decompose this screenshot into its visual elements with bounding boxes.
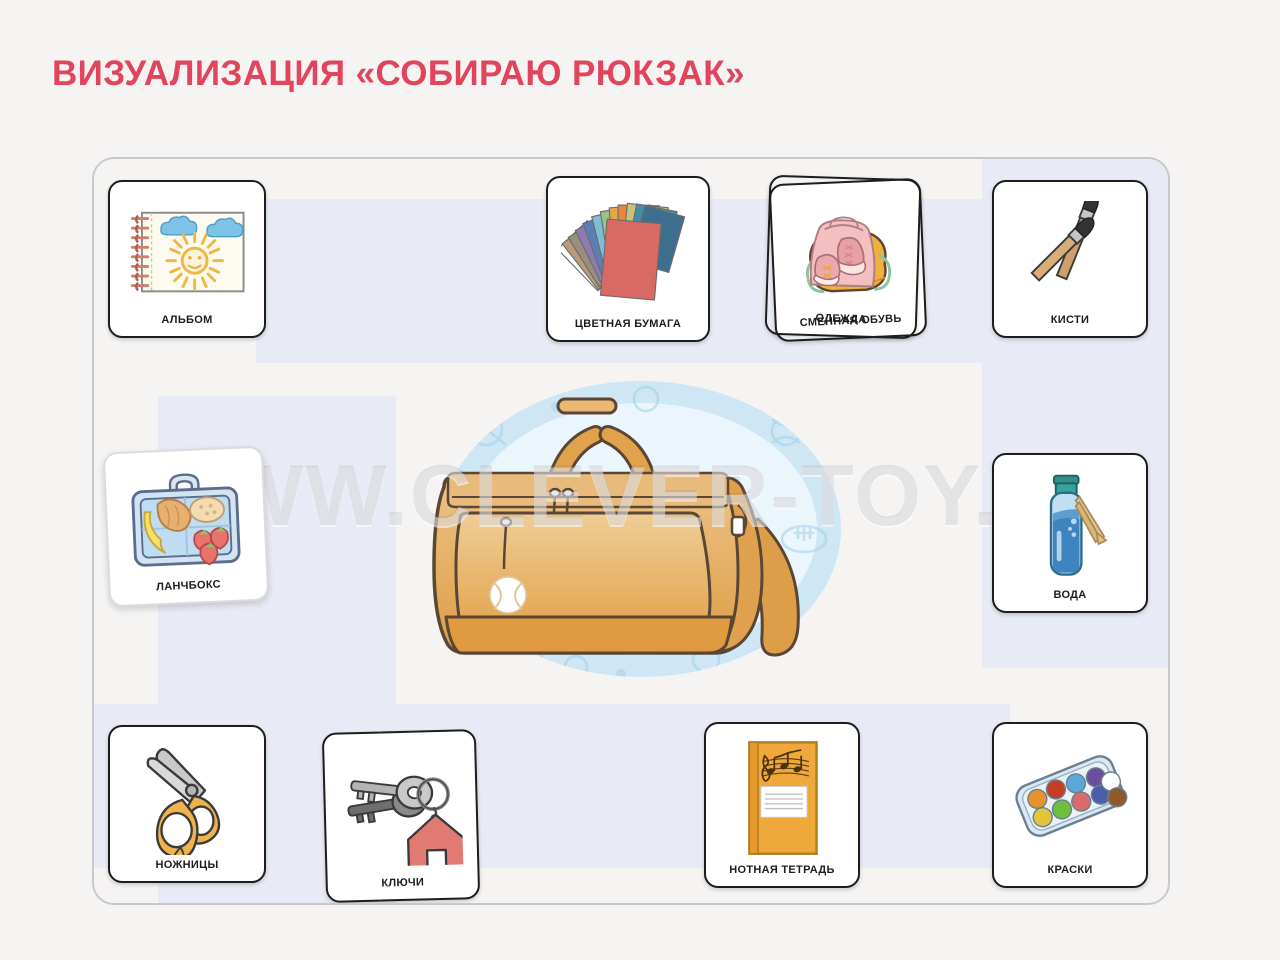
card-label: ЦВЕТНАЯ БУМАГА	[548, 319, 708, 340]
center-bag-illustration	[406, 359, 876, 699]
card-colored-paper[interactable]: ЦВЕТНАЯ БУМАГА	[546, 176, 710, 342]
paint-palette-icon	[994, 724, 1146, 865]
keys-icon	[324, 731, 478, 880]
colored-paper-icon	[548, 178, 708, 319]
card-lunchbox[interactable]: ЛАНЧБОКС	[103, 446, 270, 608]
card-label: НОТНАЯ ТЕТРАДЬ	[706, 865, 858, 886]
card-paints[interactable]: КРАСКИ	[992, 722, 1148, 888]
scissors-icon	[110, 727, 264, 860]
paint-brushes-icon	[994, 182, 1146, 315]
sports-duffel-bag-icon	[406, 359, 876, 699]
board-frame: WWW.CLEVER-TOY.RU	[92, 157, 1170, 905]
clothes-bag-icon	[767, 177, 919, 317]
card-water[interactable]: ВОДА	[992, 453, 1148, 613]
card-label: НОЖНИЦЫ	[110, 860, 264, 881]
lunchbox-icon	[105, 448, 267, 585]
page-title: ВИЗУАЛИЗАЦИЯ «СОБИРАЮ РЮКЗАК»	[52, 54, 745, 94]
card-keys[interactable]: КЛЮЧИ	[322, 729, 480, 903]
sketchbook-icon	[110, 182, 264, 315]
card-scissors[interactable]: НОЖНИЦЫ	[108, 725, 266, 883]
water-bottle-icon	[994, 455, 1146, 590]
card-clothes[interactable]: ОДЕЖДА	[765, 175, 922, 340]
card-brushes[interactable]: КИСТИ	[992, 180, 1148, 338]
card-label: ВОДА	[994, 590, 1146, 611]
visualization-poster: ВИЗУАЛИЗАЦИЯ «СОБИРАЮ РЮКЗАК»	[0, 0, 1280, 960]
music-notebook-icon	[706, 724, 858, 865]
card-label: КЛЮЧИ	[328, 876, 478, 901]
card-label: АЛЬБОМ	[110, 315, 264, 336]
card-label: КРАСКИ	[994, 865, 1146, 886]
card-album[interactable]: АЛЬБОМ	[108, 180, 266, 338]
card-label: ОДЕЖДА	[767, 312, 916, 338]
card-label: КИСТИ	[994, 315, 1146, 336]
card-music-notebook[interactable]: НОТНАЯ ТЕТРАДЬ	[704, 722, 860, 888]
